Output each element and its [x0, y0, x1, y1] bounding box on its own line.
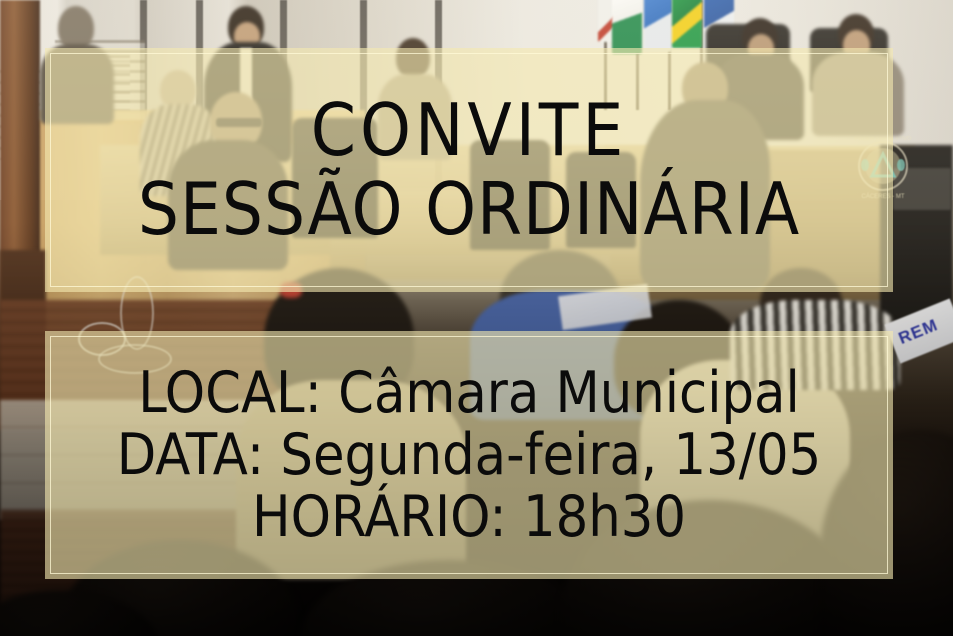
detail-local: LOCAL: Câmara Municipal [138, 364, 799, 422]
invitation-poster: PODER LEGISLATIVO CÁCERES - MT [0, 0, 953, 636]
flag-municipal [612, 0, 642, 54]
details-panel: LOCAL: Câmara Municipal DATA: Segunda-fe… [45, 331, 893, 579]
detail-data: DATA: Segunda-feira, 13/05 [117, 426, 822, 484]
title-line-sessao-ordinaria: SESSÃO ORDINÁRIA [138, 173, 800, 246]
flag-state [644, 0, 672, 52]
title-line-convite: CONVITE [311, 94, 628, 167]
flag-brazil [672, 0, 702, 48]
detail-horario: HORÁRIO: 18h30 [252, 488, 686, 546]
title-panel: CONVITE SESSÃO ORDINÁRIA [45, 48, 893, 292]
